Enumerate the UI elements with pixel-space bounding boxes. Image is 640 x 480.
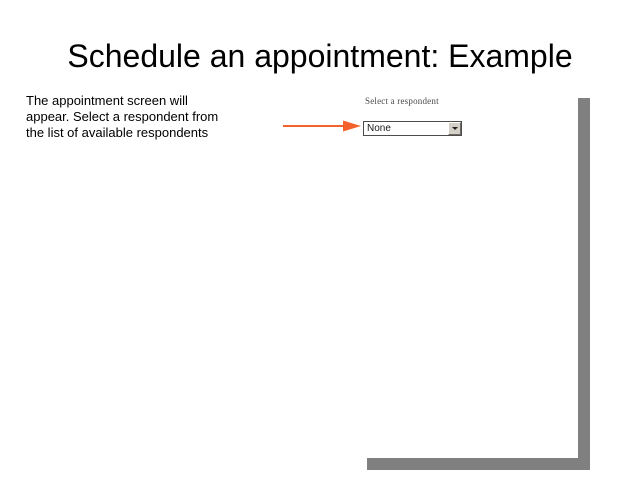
- body-text-line: the list of available respondents: [26, 125, 258, 141]
- presentation-slide: Schedule an appointment: Example The app…: [0, 0, 640, 480]
- body-text-line: The appointment screen will: [26, 93, 258, 109]
- arrow-right-icon: [283, 119, 361, 133]
- select-respondent-label: Select a respondent: [363, 96, 467, 107]
- appointment-screen-fragment: Select a respondent None: [363, 96, 467, 140]
- dropdown-toggle-button[interactable]: [448, 122, 461, 135]
- frame-shadow-right: [578, 98, 590, 470]
- frame-shadow-bottom: [367, 458, 590, 470]
- slide-title: Schedule an appointment: Example: [0, 38, 640, 75]
- slide-body-text: The appointment screen will appear. Sele…: [26, 93, 258, 141]
- select-respondent-value: None: [364, 122, 391, 135]
- chevron-down-icon: [452, 127, 458, 130]
- select-respondent-dropdown[interactable]: None: [363, 121, 462, 136]
- body-text-line: appear. Select a respondent from: [26, 109, 258, 125]
